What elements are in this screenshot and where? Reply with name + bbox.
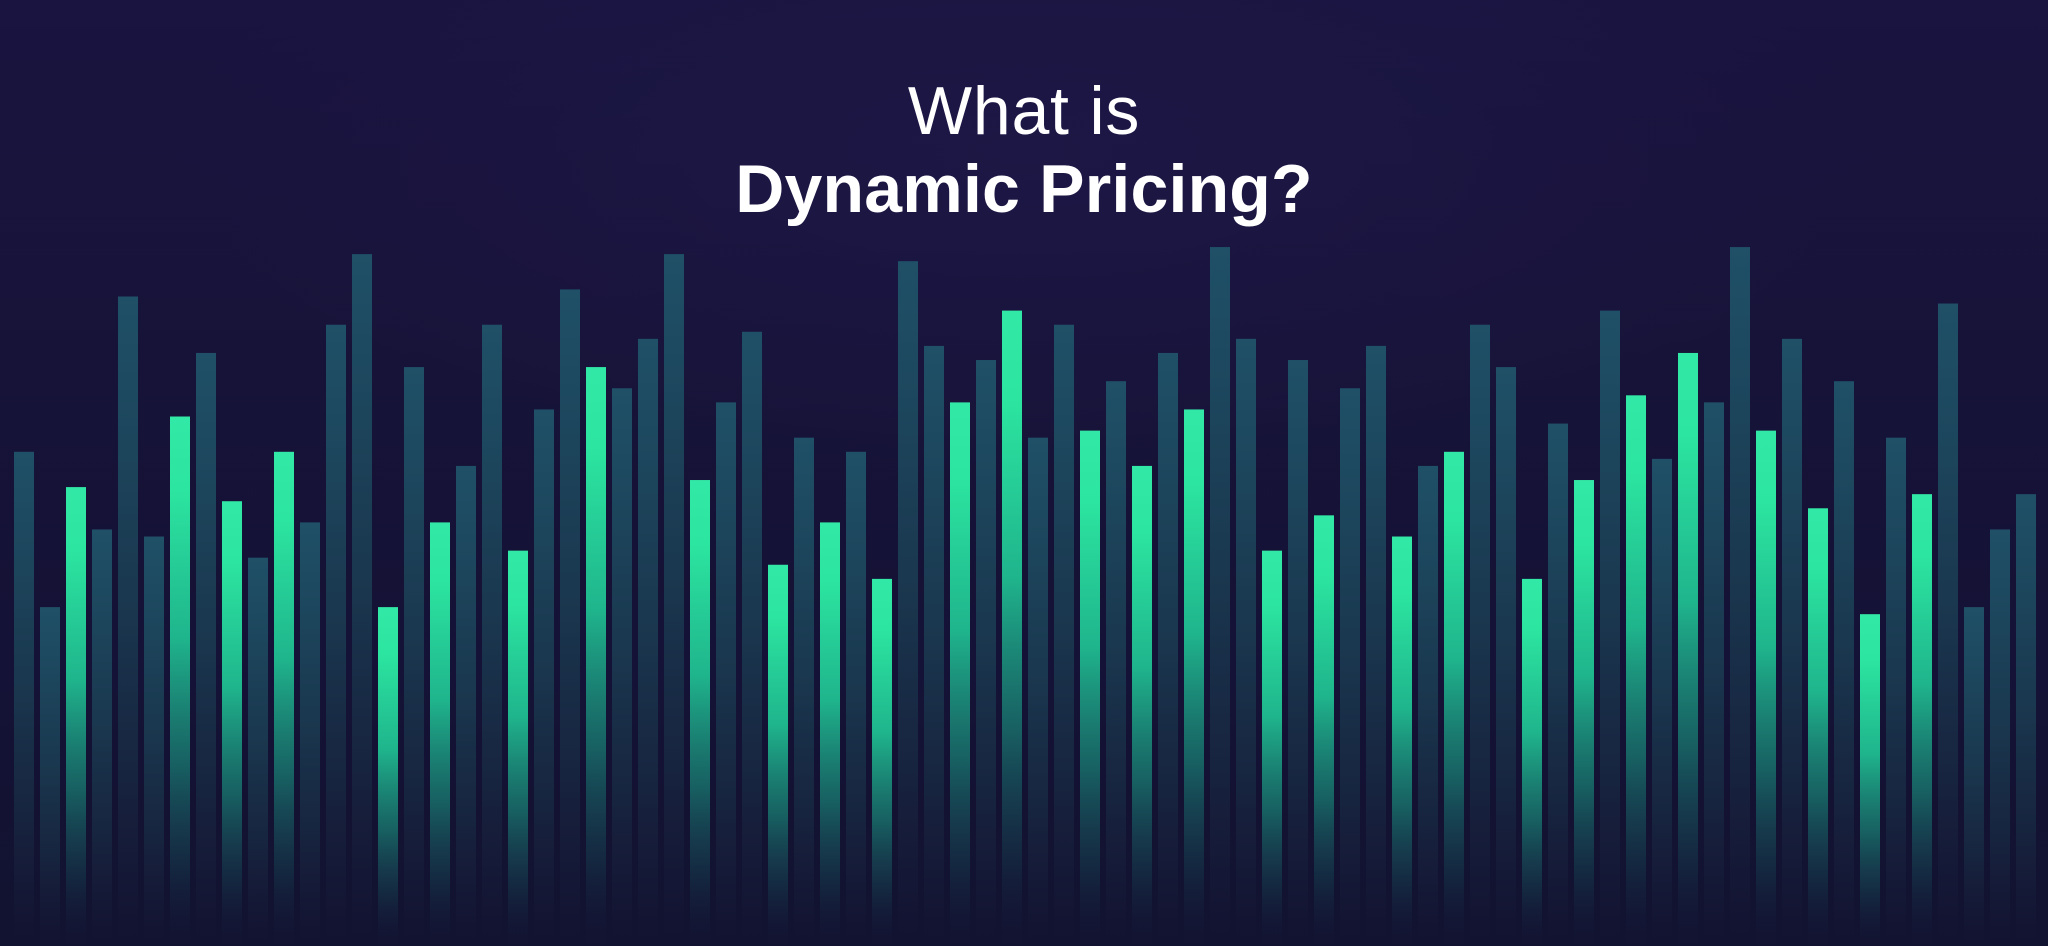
chart-bar: [742, 332, 762, 946]
chart-bar: [768, 565, 788, 946]
chart-bar: [1314, 515, 1334, 946]
chart-bar: [1938, 304, 1958, 946]
bar-chart-svg: [0, 0, 2048, 946]
chart-bar: [1756, 431, 1776, 946]
chart-bar: [1964, 607, 1984, 946]
chart-bar: [1288, 360, 1308, 946]
chart-bar: [1678, 353, 1698, 946]
chart-bar: [1574, 480, 1594, 946]
chart-bar: [560, 289, 580, 946]
chart-bar: [1470, 325, 1490, 946]
chart-bar: [820, 522, 840, 946]
chart-bar: [1652, 459, 1672, 946]
chart-bar: [638, 339, 658, 946]
chart-bar: [430, 522, 450, 946]
chart-bar: [612, 388, 632, 946]
chart-bar: [950, 402, 970, 946]
chart-bar: [1366, 346, 1386, 946]
chart-bar: [1080, 431, 1100, 946]
chart-bar: [14, 452, 34, 946]
chart-bar: [92, 529, 112, 946]
chart-bar: [66, 487, 86, 946]
chart-bar: [222, 501, 242, 946]
chart-bar: [1600, 311, 1620, 946]
chart-bar: [1808, 508, 1828, 946]
chart-bar: [690, 480, 710, 946]
chart-bar: [1054, 325, 1074, 946]
chart-bar: [1158, 353, 1178, 946]
chart-bar: [1704, 402, 1724, 946]
chart-bar: [300, 522, 320, 946]
chart-bar: [1860, 614, 1880, 946]
chart-bar: [404, 367, 424, 946]
chart-bar: [1262, 551, 1282, 946]
chart-bar: [1626, 395, 1646, 946]
chart-bar: [144, 537, 164, 946]
chart-bar: [248, 558, 268, 946]
dynamic-pricing-banner: What is Dynamic Pricing?: [0, 0, 2048, 946]
chart-bar: [1782, 339, 1802, 946]
chart-bar: [482, 325, 502, 946]
chart-bar: [1002, 311, 1022, 946]
chart-bar: [1418, 466, 1438, 946]
chart-bar: [170, 417, 190, 946]
chart-bar: [534, 409, 554, 946]
chart-bar: [352, 254, 372, 946]
chart-bar: [1392, 537, 1412, 946]
chart-bar: [196, 353, 216, 946]
chart-bar: [274, 452, 294, 946]
chart-bar: [846, 452, 866, 946]
chart-bar: [456, 466, 476, 946]
chart-bar: [40, 607, 60, 946]
chart-bar: [664, 254, 684, 946]
chart-bar: [1340, 388, 1360, 946]
chart-bar: [716, 402, 736, 946]
chart-bar: [2016, 494, 2036, 946]
chart-bar: [1548, 424, 1568, 946]
chart-bar: [1028, 438, 1048, 946]
chart-bar: [1886, 438, 1906, 946]
chart-bar: [1522, 579, 1542, 946]
chart-bar: [1132, 466, 1152, 946]
chart-bar: [378, 607, 398, 946]
chart-bar: [794, 438, 814, 946]
chart-bar: [1834, 381, 1854, 946]
chart-bar: [976, 360, 996, 946]
bar-chart-background: [0, 0, 2048, 946]
chart-bar: [326, 325, 346, 946]
chart-bar: [1106, 381, 1126, 946]
chart-bar: [586, 367, 606, 946]
chart-bar: [1444, 452, 1464, 946]
chart-bar: [924, 346, 944, 946]
bar-group: [14, 247, 2036, 946]
chart-bar: [1496, 367, 1516, 946]
chart-bar: [1730, 247, 1750, 946]
chart-bar: [1990, 529, 2010, 946]
chart-bar: [1236, 339, 1256, 946]
chart-bar: [1912, 494, 1932, 946]
chart-bar: [118, 296, 138, 946]
chart-bar: [898, 261, 918, 946]
chart-bar: [1184, 409, 1204, 946]
chart-bar: [872, 579, 892, 946]
chart-bar: [508, 551, 528, 946]
chart-bar: [1210, 247, 1230, 946]
